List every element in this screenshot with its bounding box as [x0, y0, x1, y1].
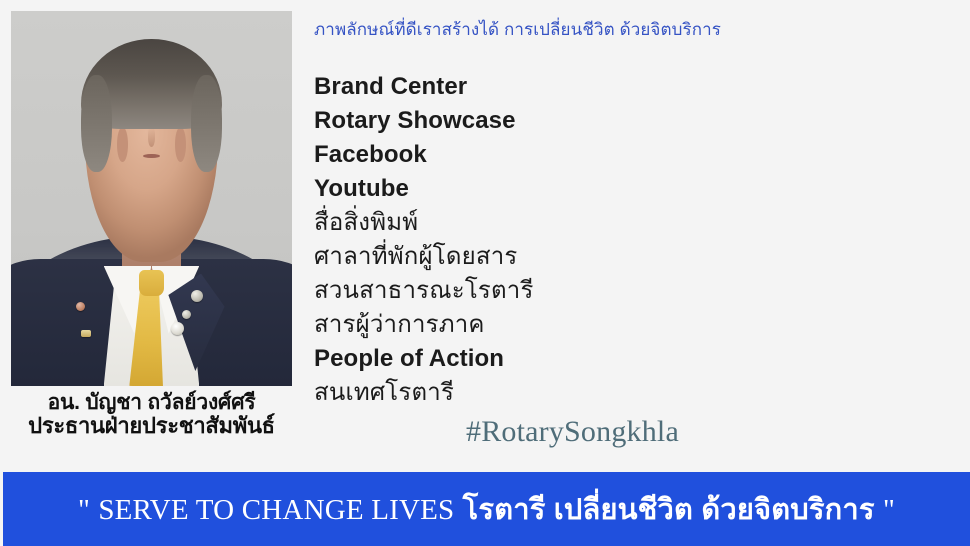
lapel-pin-icon: [191, 290, 203, 302]
lapel-pin-icon: [81, 330, 91, 337]
necktie-knot: [139, 270, 164, 296]
list-item[interactable]: Brand Center: [314, 70, 834, 104]
banner-thai-text: โรตารี เปลี่ยนชีวิต ด้วยจิตบริการ: [463, 494, 875, 526]
caption-name: อน. บัญชา ถวัลย์วงศ์ศรี: [0, 392, 303, 414]
banner-quote-open: ": [78, 494, 90, 526]
hair-side-left: [81, 75, 112, 173]
channel-list: Brand Center Rotary Showcase Facebook Yo…: [314, 70, 834, 410]
portrait-image: [11, 11, 292, 386]
list-item[interactable]: Facebook: [314, 138, 834, 172]
list-item[interactable]: People of Action: [314, 342, 834, 376]
banner-english-text: SERVE TO CHANGE LIVES: [98, 494, 454, 526]
banner-quote-close: ": [883, 494, 895, 526]
list-item[interactable]: สวนสาธารณะโรตารี: [314, 274, 834, 308]
portrait-photo: [11, 11, 292, 386]
caption-role: ประธานฝ่ายประชาสัมพันธ์: [0, 414, 303, 437]
slide-canvas: อน. บัญชา ถวัลย์วงศ์ศรี ประธานฝ่ายประชาส…: [0, 0, 970, 546]
list-item[interactable]: สนเทศโรตารี: [314, 376, 834, 410]
hair-side-right: [191, 75, 222, 173]
ear-left: [117, 127, 128, 162]
portrait-caption: อน. บัญชา ถวัลย์วงศ์ศรี ประธานฝ่ายประชาส…: [0, 392, 303, 438]
list-item[interactable]: Rotary Showcase: [314, 104, 834, 138]
nose: [148, 127, 156, 147]
banner-slogan: " SERVE TO CHANGE LIVES โรตารี เปลี่ยนชี…: [78, 486, 895, 532]
mouth: [143, 154, 160, 158]
lapel-pin-icon: [182, 310, 191, 319]
list-item[interactable]: สื่อสิ่งพิมพ์: [314, 206, 834, 240]
lapel-pin-icon: [76, 302, 85, 311]
headline-text: ภาพลักษณ์ที่ดีเราสร้างได้ การเปลี่ยนชีวิ…: [314, 16, 721, 43]
hashtag[interactable]: #RotarySongkhla: [466, 415, 679, 449]
list-item[interactable]: Youtube: [314, 172, 834, 206]
list-item[interactable]: สารผู้ว่าการภาค: [314, 308, 834, 342]
bottom-banner: " SERVE TO CHANGE LIVES โรตารี เปลี่ยนชี…: [3, 472, 970, 546]
list-item[interactable]: ศาลาที่พักผู้โดยสาร: [314, 240, 834, 274]
ear-right: [175, 127, 186, 162]
